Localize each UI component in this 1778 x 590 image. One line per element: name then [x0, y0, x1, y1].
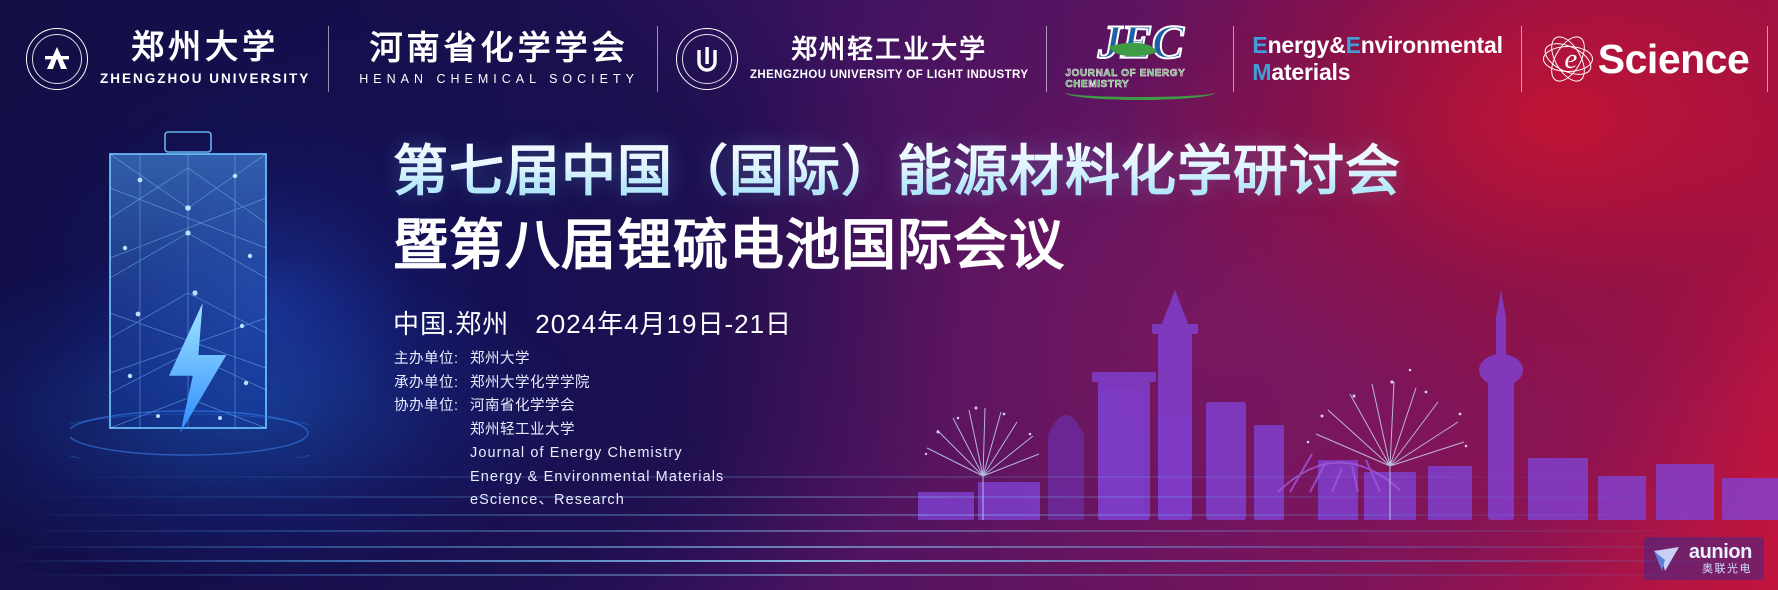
light-streaks [0, 415, 1778, 590]
title-block: 第七届中国（国际）能源材料化学研讨会 暨第八届锂硫电池国际会议 中国.郑州202… [393, 140, 1723, 341]
aunion-mark-icon [1652, 545, 1682, 573]
zhengzhou-university-cn: 郑州大学 [131, 32, 279, 65]
light-industry-names: 郑州轻工业大学 ZHENGZHOU UNIVERSITY OF LIGHT IN… [750, 37, 1028, 82]
escience-lockup: e Science [1540, 33, 1750, 85]
aunion-en: aunion [1689, 542, 1752, 562]
co-organizer-item: 郑州轻工业大学 [394, 419, 724, 443]
conference-banner: 郑州大学 ZHENGZHOU UNIVERSITY 河南省化学学会 HENAN … [0, 0, 1778, 590]
logo-zhengzhou-light-industry: 郑州轻工业大学 ZHENGZHOU UNIVERSITY OF LIGHT IN… [676, 0, 1028, 118]
light-industry-seal-icon [676, 28, 738, 90]
organizer-value: 河南省化学学会 [470, 395, 575, 419]
logo-divider [328, 26, 329, 92]
eem-nvironmental: nvironmental [1361, 32, 1503, 58]
escience-e: e [1558, 42, 1584, 76]
light-industry-cn: 郑州轻工业大学 [791, 37, 987, 63]
eem-e2: E [1346, 32, 1361, 58]
atom-orbit-icon: e [1540, 33, 1596, 85]
location-text: 中国.郑州 [393, 309, 509, 339]
logo-energy-environmental-materials: Energy&Environmental Materials [1252, 0, 1502, 118]
zhengzhou-university-names: 郑州大学 ZHENGZHOU UNIVERSITY [100, 32, 310, 86]
organizer-label: 协办单位: [394, 395, 470, 419]
zhengzhou-university-seal-icon [26, 28, 88, 90]
eem-e1: E [1252, 32, 1267, 58]
escience-wordmark: Science [1598, 39, 1750, 80]
organizer-row: 主办单位: 郑州大学 [394, 348, 724, 372]
eem-nergy: nergy& [1268, 32, 1346, 58]
logo-escience: e Science [1540, 0, 1750, 118]
co-organizer-item: eScience、Research [394, 489, 724, 513]
henan-chemical-society-names: 河南省化学学会 HENAN CHEMICAL SOCIETY [359, 33, 639, 86]
henan-chemical-society-en: HENAN CHEMICAL SOCIETY [359, 73, 639, 86]
co-organizer-item: Journal of Energy Chemistry [394, 442, 724, 466]
organizer-block: 主办单位: 郑州大学 承办单位: 郑州大学化学学院 协办单位: 河南省化学学会 … [394, 348, 724, 513]
jec-swoosh-icon [1065, 91, 1215, 100]
aunion-cn: 奥联光电 [1689, 564, 1752, 575]
logo-jec: JEC JOURNAL OF ENERGY CHEMISTRY [1065, 0, 1215, 118]
conference-title-line1: 第七届中国（国际）能源材料化学研讨会 [393, 140, 1723, 204]
place-and-date: 中国.郑州2024年4月19日-21日 [393, 304, 1723, 341]
date-text: 2024年4月19日-21日 [535, 309, 792, 339]
organizer-row: 协办单位: 河南省化学学会 [394, 395, 724, 419]
organizer-row: 承办单位: 郑州大学化学学院 [394, 372, 724, 396]
logo-divider [1233, 26, 1234, 92]
eem-m: M [1252, 59, 1271, 85]
logo-divider [1767, 26, 1768, 92]
logo-divider [1521, 26, 1522, 92]
battery-wireframe-art [70, 128, 310, 458]
sponsor-logo-bar: 郑州大学 ZHENGZHOU UNIVERSITY 河南省化学学会 HENAN … [0, 0, 1778, 118]
light-industry-en: ZHENGZHOU UNIVERSITY OF LIGHT INDUSTRY [750, 70, 1028, 82]
jec-lockup: JEC JOURNAL OF ENERGY CHEMISTRY [1065, 19, 1215, 100]
eem-line2: Materials [1252, 59, 1502, 86]
zhengzhou-university-en: ZHENGZHOU UNIVERSITY [100, 72, 310, 86]
lightning-bolt-icon [162, 303, 232, 433]
henan-chemical-society-cn: 河南省化学学会 [370, 33, 629, 66]
aunion-text: aunion 奥联光电 [1689, 542, 1752, 575]
organizer-label: 承办单位: [394, 372, 470, 396]
eem-line1: Energy&Environmental [1252, 32, 1502, 59]
organizer-value: 郑州大学 [470, 348, 530, 372]
logo-zhengzhou-university: 郑州大学 ZHENGZHOU UNIVERSITY [26, 0, 310, 118]
aunion-watermark: aunion 奥联光电 [1644, 537, 1764, 580]
organizer-value: 郑州大学化学学院 [470, 372, 590, 396]
logo-divider [657, 26, 658, 92]
organizer-label: 主办单位: [394, 348, 470, 372]
eem-wordmark: Energy&Environmental Materials [1252, 32, 1502, 86]
conference-title-line2: 暨第八届锂硫电池国际会议 [393, 214, 1723, 278]
eem-aterials: aterials [1271, 59, 1350, 85]
logo-henan-chemical-society: 河南省化学学会 HENAN CHEMICAL SOCIETY [347, 0, 639, 118]
jec-subtitle: JOURNAL OF ENERGY CHEMISTRY [1065, 68, 1215, 90]
logo-divider [1046, 26, 1047, 92]
co-organizer-item: Energy & Environmental Materials [394, 466, 724, 490]
